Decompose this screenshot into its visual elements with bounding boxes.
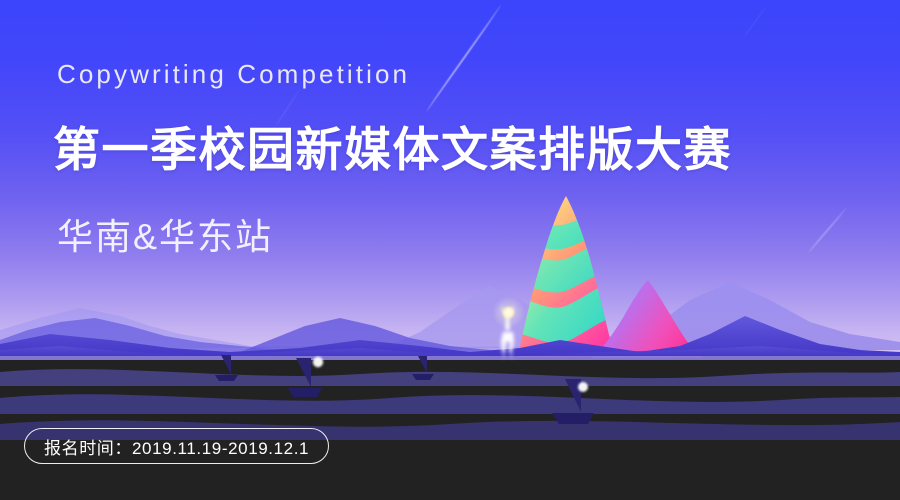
poster-text-layer: Copywriting Competition 第一季校园新媒体文案排版大赛 华…	[0, 0, 900, 500]
registration-date-text: 报名时间：2019.11.19-2019.12.1	[44, 434, 309, 459]
poster-canvas: Copywriting Competition 第一季校园新媒体文案排版大赛 华…	[0, 0, 900, 500]
page-title: 第一季校园新媒体文案排版大赛	[53, 111, 732, 180]
registration-date-badge: 报名时间：2019.11.19-2019.12.1	[24, 428, 329, 464]
eyebrow-text: Copywriting Competition	[57, 59, 410, 90]
subtitle-text: 华南&华东站	[57, 208, 273, 260]
